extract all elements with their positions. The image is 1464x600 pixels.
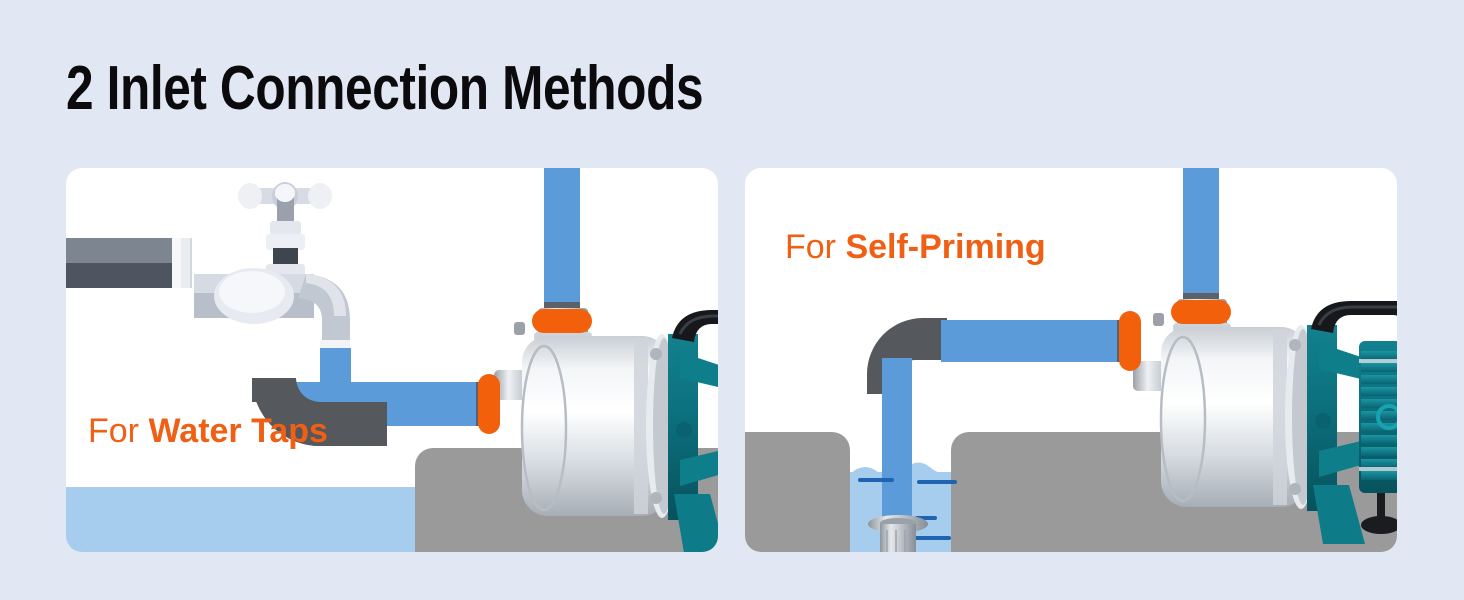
- caption-emphasis: Self-Priming: [845, 228, 1045, 266]
- orange-coupling-inlet: [1119, 311, 1141, 371]
- caption-water-tap: For Water Taps: [88, 414, 328, 448]
- panel-water-tap: For Water Taps: [66, 168, 718, 552]
- water-surface: [66, 487, 415, 552]
- foot-valve-strainer: [867, 514, 929, 552]
- caption-prefix: For: [88, 412, 148, 450]
- blue-suction-pipe-horizontal: [941, 320, 1127, 362]
- vertical-outlet-pipe: [1183, 168, 1219, 301]
- caption-self-priming: For Self-Priming: [785, 230, 1046, 264]
- well-wall-left: [745, 432, 850, 552]
- page-title: 2 Inlet Connection Methods: [66, 58, 703, 120]
- water-tap-faucet: [174, 168, 384, 348]
- orange-coupling-outlet: [532, 309, 592, 333]
- caption-prefix: For: [785, 228, 845, 266]
- orange-coupling-inlet: [478, 374, 500, 434]
- caption-emphasis: Water Taps: [148, 412, 327, 450]
- vertical-outlet-pipe: [544, 168, 580, 310]
- jet-pump: [1123, 299, 1397, 544]
- water-flow-dash: [858, 478, 894, 482]
- blue-suction-pipe-vertical: [882, 358, 912, 538]
- jet-pump: [484, 308, 718, 552]
- panel-self-priming: For Self-Priming: [745, 168, 1397, 552]
- orange-coupling-outlet: [1171, 300, 1231, 324]
- water-flow-dash: [917, 480, 957, 484]
